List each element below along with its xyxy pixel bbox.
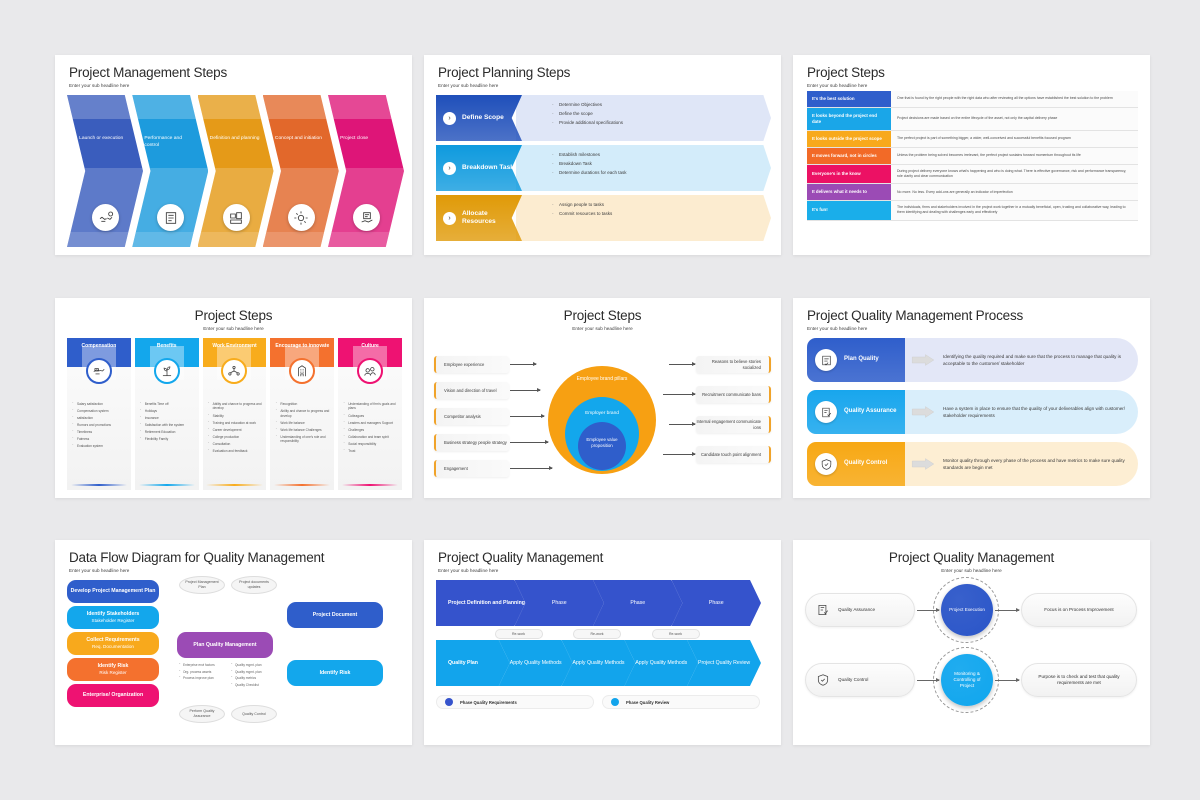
table-row[interactable]: It delivers what it needs toNo more. No … (807, 184, 1138, 201)
chevron-phase-label: Apply Quality Methods (573, 660, 625, 667)
planning-row-header: ›Allocate Resources (436, 195, 522, 241)
input-sub-label: Stakeholder Register (92, 618, 135, 624)
category-column[interactable]: CultureUnderstanding of firm's goals and… (338, 338, 402, 490)
legend-dot (611, 698, 619, 706)
chevron-bottom-band (132, 232, 208, 247)
data-store-bottom[interactable]: Perform Quality Assurance (179, 705, 225, 723)
arrow-right-icon (911, 406, 935, 419)
chevron-phase[interactable]: Project Quality Review (687, 640, 761, 686)
detail-bullet: Quality mgmt. plan (231, 663, 277, 667)
quality-row[interactable]: Identifying the quality required and mak… (807, 338, 1138, 382)
detail-bullet: Quality Checklist (231, 683, 277, 687)
right-pill-label: Purpose is to check and test that qualit… (1030, 674, 1128, 687)
rework-badge[interactable]: Re-work (652, 629, 700, 639)
quality-row[interactable]: Have a system in place to ensure that th… (807, 390, 1138, 434)
category-bullet: Recognition (275, 402, 330, 406)
detail-bullet: Process improve plan (179, 676, 225, 680)
chevron-top-band (132, 95, 208, 119)
planning-row-header: ›Breakdown Task (436, 145, 522, 191)
table-row[interactable]: It looks beyond the project end dateProj… (807, 108, 1138, 131)
page-title: Data Flow Diagram for Quality Management (69, 550, 324, 565)
culture-people-icon (357, 358, 383, 384)
planning-bullet: Breakdown Task (552, 161, 761, 167)
page-subtitle: Enter your sub headline here (807, 83, 867, 88)
chevron-step-label: Performance and control (144, 136, 196, 149)
chevron-top-band (198, 95, 274, 119)
slide-project-steps-columns[interactable]: Project Steps Enter your sub headline he… (55, 298, 412, 498)
planning-row[interactable]: Assign people to tasksCommit resources t… (436, 195, 771, 241)
slide-gallery: Project Management Steps Enter your sub … (0, 0, 1200, 800)
connector-arrow (510, 468, 552, 469)
input-pill[interactable]: Vision and direction of travel (434, 382, 509, 399)
money-hand-icon (86, 358, 112, 384)
table-row[interactable]: It's fun!The individuals, firms and stak… (807, 201, 1138, 221)
chevron-phase[interactable]: Apply Quality Methods (499, 640, 573, 686)
arrow-right-icon (911, 458, 935, 471)
planning-bullet: Provide additional specifications (552, 120, 761, 126)
planning-row-panel: Determine ObjectivesDefine the scopeProv… (516, 95, 771, 141)
data-flow-output[interactable]: Identify Risk (287, 660, 383, 686)
input-pill[interactable]: Competitor analysis (434, 408, 509, 425)
category-bullet: Ability and chance to progress and devel… (275, 409, 330, 418)
page-subtitle: Enter your sub headline here (793, 568, 1150, 573)
chevron-bottom-band (263, 232, 339, 247)
brand-ring[interactable]: Employee value proposition (578, 422, 626, 470)
detail-bullet: Enterprise envi factors (179, 663, 225, 667)
category-bullet: Work life balance (275, 421, 330, 425)
quality-row-header: Quality Control (807, 442, 905, 486)
category-bullet: Ability and chance to progress and devel… (208, 402, 263, 411)
slide-project-steps-table[interactable]: Project Steps Enter your sub headline he… (793, 55, 1150, 255)
chevron-phase[interactable]: Apply Quality Methods (624, 640, 698, 686)
planning-bullet: Determine Objectives (552, 102, 761, 108)
category-bullet: Understanding of one's role and responsi… (275, 435, 330, 444)
connector-arrow (663, 454, 695, 455)
category-bullet: Work life balance Challenges (275, 428, 330, 432)
planning-row[interactable]: Determine ObjectivesDefine the scopeProv… (436, 95, 771, 141)
data-store-top[interactable]: Project documents updates (231, 576, 277, 594)
planning-bullet: Determine durations for each task (552, 170, 761, 176)
chevron-right-icon: › (443, 112, 456, 125)
quality-row-name: Quality Assurance (844, 408, 896, 416)
planning-bullet: Commit resources to tasks (552, 211, 761, 217)
chevron-phase[interactable]: Phase (515, 580, 605, 626)
chevron-top-band (328, 95, 404, 119)
planning-row-panel: Establish milestonesBreakdown TaskDeterm… (516, 145, 771, 191)
input-main-label: Identify Stakeholders (87, 611, 139, 618)
category-bullet: College production (208, 435, 263, 439)
gear-idea-icon (288, 204, 315, 231)
connector-arrow (510, 442, 548, 443)
connector-arrow-left (917, 610, 939, 611)
chevron-phase-label: Quality Plan (448, 660, 478, 667)
category-column[interactable]: BenefitsBenefits Time offHolidaysInsuran… (135, 338, 199, 490)
category-column[interactable]: Work EnvironmentAbility and chance to pr… (203, 338, 267, 490)
quality-row-name: Plan Quality (844, 356, 879, 364)
table-row-description: Unless the problem being solved becomes … (891, 148, 1138, 164)
chevron-step-label: Launch or execution (79, 136, 131, 143)
detail-bullet: Quality metrics (231, 676, 277, 680)
detail-bullet: Org. process assets (179, 670, 225, 674)
category-columns: CompensationSalary satisfactionCompensat… (67, 338, 402, 490)
chevron-phase[interactable]: Quality Plan (436, 640, 510, 686)
slide-project-management-steps[interactable]: Project Management Steps Enter your sub … (55, 55, 412, 255)
quality-assurance-icon (815, 401, 837, 423)
connector-arrow (669, 424, 695, 425)
table-row-label: It looks beyond the project end date (807, 108, 891, 130)
data-flow-input[interactable]: Develop Project Management Plan (67, 580, 159, 603)
page-title: Project Quality Management Process (807, 308, 1023, 323)
page-subtitle: Enter your sub headline here (807, 326, 867, 331)
category-bullet: Fairness (72, 437, 127, 441)
data-store-bottom[interactable]: Quality Control (231, 705, 277, 723)
category-bullet: Benefits Time off (140, 402, 195, 406)
detail-bullet: Quality mgmt. plan (231, 670, 277, 674)
chevron-bottom-band (328, 232, 404, 247)
quality-row-panel: Monitor quality through every phase of t… (905, 442, 1138, 486)
planning-row-header: ›Define Scope (436, 95, 522, 141)
plan-quality-icon (815, 349, 837, 371)
page-title: Project Quality Management (438, 550, 603, 565)
category-bullet: Social responsibility (343, 442, 398, 446)
quality-row-name: Quality Control (844, 460, 887, 468)
page-title: Project Steps (55, 308, 412, 323)
chevron-phase-label: Apply Quality Methods (635, 660, 687, 667)
table-row-description: During project delivery everyone knows w… (891, 165, 1138, 184)
data-flow-output[interactable]: Project Document (287, 602, 383, 628)
category-bullet: Leaders and managers Support (343, 421, 398, 425)
column-footer-accent (274, 484, 330, 486)
legend-item[interactable]: Phase Quality Review (602, 695, 760, 709)
category-bullet: Flexibility Family (140, 437, 195, 441)
chevron-phase-label: Project Quality Review (698, 660, 750, 667)
category-bullet: Evaluation and feedback (208, 449, 263, 453)
chevron-process: Launch or executionPerformance and contr… (67, 95, 404, 247)
center-node-label: Plan Quality Management (193, 642, 256, 649)
page-subtitle: Enter your sub headline here (438, 568, 498, 573)
table-row[interactable]: It looks outside the project scopeThe pe… (807, 131, 1138, 148)
output-pill[interactable]: Reasons to believe stories socialized (696, 356, 771, 373)
table-row-description: Project decisions are made based on the … (891, 108, 1138, 130)
table-row-description: The perfect project is part of something… (891, 131, 1138, 147)
input-sub-label: Req. Documentation (92, 644, 134, 650)
column-footer-accent (206, 484, 262, 486)
page-title: Project Steps (424, 308, 781, 323)
category-bullet: Trust (343, 449, 398, 453)
chevron-bottom-band (198, 232, 274, 247)
legend-item[interactable]: Phase Quality Requirements (436, 695, 594, 709)
building-innovation-icon (289, 358, 315, 384)
planning-row-name: Allocate Resources (462, 210, 522, 226)
planning-row-panel: Assign people to tasksCommit resources t… (516, 195, 771, 241)
chevron-phase-label: Phase (709, 600, 724, 607)
table-row-label: It delivers what it needs to (807, 184, 891, 200)
input-main-label: Collect Requirements (86, 637, 139, 644)
chevron-phase[interactable]: Apply Quality Methods (562, 640, 636, 686)
quality-row-panel: Identifying the quality required and mak… (905, 338, 1138, 382)
page-title: Project Management Steps (69, 65, 227, 80)
category-bullet: Understanding of firm's goals and plans (343, 402, 398, 411)
input-main-label: Develop Project Management Plan (71, 588, 156, 595)
table-row[interactable]: It moves forward, not in circlesUnless t… (807, 148, 1138, 165)
category-bullet: Consultation (208, 442, 263, 446)
slide-quality-management-process[interactable]: Project Quality Management Process Enter… (793, 298, 1150, 498)
slide-project-planning-steps[interactable]: Project Planning Steps Enter your sub he… (424, 55, 781, 255)
center-circle[interactable]: Monitoring & Controlling of Project (941, 654, 993, 706)
left-pill-label: Quality Assurance (838, 607, 875, 613)
right-pill[interactable]: Purpose is to check and test that qualit… (1021, 663, 1137, 697)
category-bullet: Holidays (140, 409, 195, 413)
table-row-label: Everyone's in the know (807, 165, 891, 184)
table-row[interactable]: It's the best solutionOne that is found … (807, 91, 1138, 108)
chevron-phase-label: Phase (552, 600, 567, 607)
category-bullet: Challenges (343, 428, 398, 432)
left-pill-label: Quality Control (838, 677, 868, 683)
category-column[interactable]: Encourage to innovateRecognitionAbility … (270, 338, 334, 490)
chevron-phase-label: Apply Quality Methods (510, 660, 562, 667)
chevron-step-label: Definition and planning (210, 136, 262, 143)
category-bullet: Evaluation system (72, 444, 127, 448)
page-title: Project Steps (807, 65, 885, 80)
output-label: Project Document (313, 612, 357, 619)
chevron-top-band (67, 95, 143, 119)
chevron-right-icon: › (443, 162, 456, 175)
brand-ring-label: Employee brand pillars (559, 376, 645, 382)
page-title: Project Quality Management (793, 550, 1150, 565)
input-main-label: Identify Risk (98, 663, 129, 670)
data-flow-input[interactable]: Identify RiskRisk Register (67, 658, 159, 681)
category-bullet: Insurance (140, 416, 195, 420)
category-bullet: Salary satisfaction (72, 402, 127, 406)
table-row-description: The individuals, firms and stakeholders … (891, 201, 1138, 220)
column-footer-accent (139, 484, 195, 486)
center-circle[interactable]: Project Execution (941, 584, 993, 636)
table-row-label: It's fun! (807, 201, 891, 220)
planning-bullet: Assign people to tasks (552, 202, 761, 208)
column-footer-accent (342, 484, 398, 486)
chevron-step-label: Concept and initiation (275, 136, 327, 143)
category-bullet: Timeliness (72, 430, 127, 434)
page-subtitle: Enter your sub headline here (55, 326, 412, 331)
chevron-phase-label: Project Definition and Planning (448, 600, 525, 607)
category-bullet: Retirement Education (140, 430, 195, 434)
chevron-phase[interactable]: Project Definition and Planning (436, 580, 526, 626)
connector-arrow-left (917, 680, 939, 681)
chevron-phase-label: Phase (630, 600, 645, 607)
connector-arrow-right (995, 680, 1019, 681)
slide-project-steps-rings[interactable]: Project Steps Enter your sub headline he… (424, 298, 781, 498)
table-row-description: One that is found by the right people wi… (891, 91, 1138, 107)
input-sub-label: Risk Register (99, 670, 126, 676)
input-pill[interactable]: Engagement (434, 460, 509, 477)
left-pill[interactable]: Quality Control (805, 663, 915, 697)
connector-arrow-right (995, 610, 1019, 611)
quality-row-header: Plan Quality (807, 338, 905, 382)
table-row-description: No more. No less. Every add-ons are gene… (891, 184, 1138, 200)
chevron-right-icon: › (443, 212, 456, 225)
chevron-top-band (263, 95, 339, 119)
chevron-phase[interactable]: Phase (672, 580, 762, 626)
planning-row-name: Breakdown Task (462, 164, 514, 172)
data-flow-input[interactable]: Identify StakeholdersStakeholder Registe… (67, 606, 159, 629)
page-subtitle: Enter your sub headline here (424, 326, 781, 331)
page-subtitle: Enter your sub headline here (438, 83, 498, 88)
category-bullet: Stability (208, 414, 263, 418)
table-row-label: It looks outside the project scope (807, 131, 891, 147)
center-circle-label: Project Execution (946, 607, 988, 613)
planning-row-name: Define Scope (462, 114, 504, 122)
team-network-icon (221, 358, 247, 384)
chevron-phase[interactable]: Phase (593, 580, 683, 626)
category-bullet: Satisfaction with the system (140, 423, 195, 427)
center-circle-label: Monitoring & Controlling of Project (946, 671, 988, 689)
handover-document-icon (353, 204, 380, 231)
data-flow-input[interactable]: Enterprise/ Organization (67, 684, 159, 707)
chevron-bottom-band (67, 232, 143, 247)
right-pill[interactable]: Focus is on Process Improvement (1021, 593, 1137, 627)
input-detail-list: Enterprise envi factorsOrg. process asse… (179, 663, 225, 683)
page-subtitle: Enter your sub headline here (69, 568, 129, 573)
slide-data-flow-diagram[interactable]: Data Flow Diagram for Quality Management… (55, 540, 412, 745)
legend-label: Phase Quality Review (626, 700, 669, 705)
input-main-label: Enterprise/ Organization (83, 692, 143, 699)
rework-badge[interactable]: Re-work (495, 629, 543, 639)
right-pill-label: Focus is on Process Improvement (1044, 607, 1113, 613)
output-detail-list: Quality mgmt. planQuality mgmt. planQual… (231, 663, 277, 690)
planning-chart-icon (223, 204, 250, 231)
connector-arrow (510, 364, 536, 365)
category-bullet: Training and education at work (208, 421, 263, 425)
output-pill[interactable]: Candidate touch point alignment (696, 446, 771, 463)
output-label: Identify Risk (320, 670, 351, 677)
page-subtitle: Enter your sub headline here (69, 83, 129, 88)
category-bullet: Compensation system (72, 409, 127, 413)
quality-row-panel: Have a system in place to ensure that th… (905, 390, 1138, 434)
page-title: Project Planning Steps (438, 65, 570, 80)
connector-arrow (663, 394, 695, 395)
steps-table: It's the best solutionOne that is found … (807, 91, 1138, 221)
legend-dot (445, 698, 453, 706)
planning-row[interactable]: Establish milestonesBreakdown TaskDeterm… (436, 145, 771, 191)
plan-quality-management-node[interactable]: Plan Quality Management (177, 632, 273, 658)
input-pill[interactable]: Business strategy people strategy (434, 434, 509, 451)
connector-arrow (669, 364, 695, 365)
data-store-top[interactable]: Project Management Plan (179, 576, 225, 594)
planning-bullet: Define the scope (552, 111, 761, 117)
output-pill[interactable]: Internal engagement communicate ions (696, 416, 771, 433)
category-bullet: Collaboration and team spirit (343, 435, 398, 439)
category-bullet: Career development (208, 428, 263, 432)
chevron-step-label: Project close (340, 136, 392, 143)
left-pill[interactable]: Quality Assurance (805, 593, 915, 627)
planning-bullet: Establish milestones (552, 152, 761, 158)
slide-quality-management-circles[interactable]: Project Quality Management Enter your su… (793, 540, 1150, 745)
category-bullet: satisfaction (72, 416, 127, 420)
input-pill[interactable]: Employee experience (434, 356, 509, 373)
rework-badge[interactable]: Re-work (573, 629, 621, 639)
connector-arrow (510, 416, 544, 417)
legend-label: Phase Quality Requirements (460, 700, 517, 705)
connector-arrow (510, 390, 540, 391)
output-pill[interactable]: Recruitment communicate bans (696, 386, 771, 403)
quality-control-icon (815, 453, 837, 475)
data-flow-input[interactable]: Collect RequirementsReq. Documentation (67, 632, 159, 655)
table-row-label: It's the best solution (807, 91, 891, 107)
slide-quality-management-chevrons[interactable]: Project Quality Management Enter your su… (424, 540, 781, 745)
table-row-label: It moves forward, not in circles (807, 148, 891, 164)
handshake-gear-icon (92, 204, 119, 231)
table-row[interactable]: Everyone's in the knowDuring project del… (807, 165, 1138, 185)
benefits-plant-icon (154, 358, 180, 384)
arrow-right-icon (911, 354, 935, 367)
quality-row-header: Quality Assurance (807, 390, 905, 434)
category-bullet: Rumors and promotions (72, 423, 127, 427)
category-column[interactable]: CompensationSalary satisfactionCompensat… (67, 338, 131, 490)
brand-ring-label: Employee value proposition (583, 437, 621, 448)
column-footer-accent (71, 484, 127, 486)
quality-row[interactable]: Monitor quality through every phase of t… (807, 442, 1138, 486)
category-bullet: Colleagues (343, 414, 398, 418)
brand-ring-label: Employer brand (572, 411, 631, 417)
